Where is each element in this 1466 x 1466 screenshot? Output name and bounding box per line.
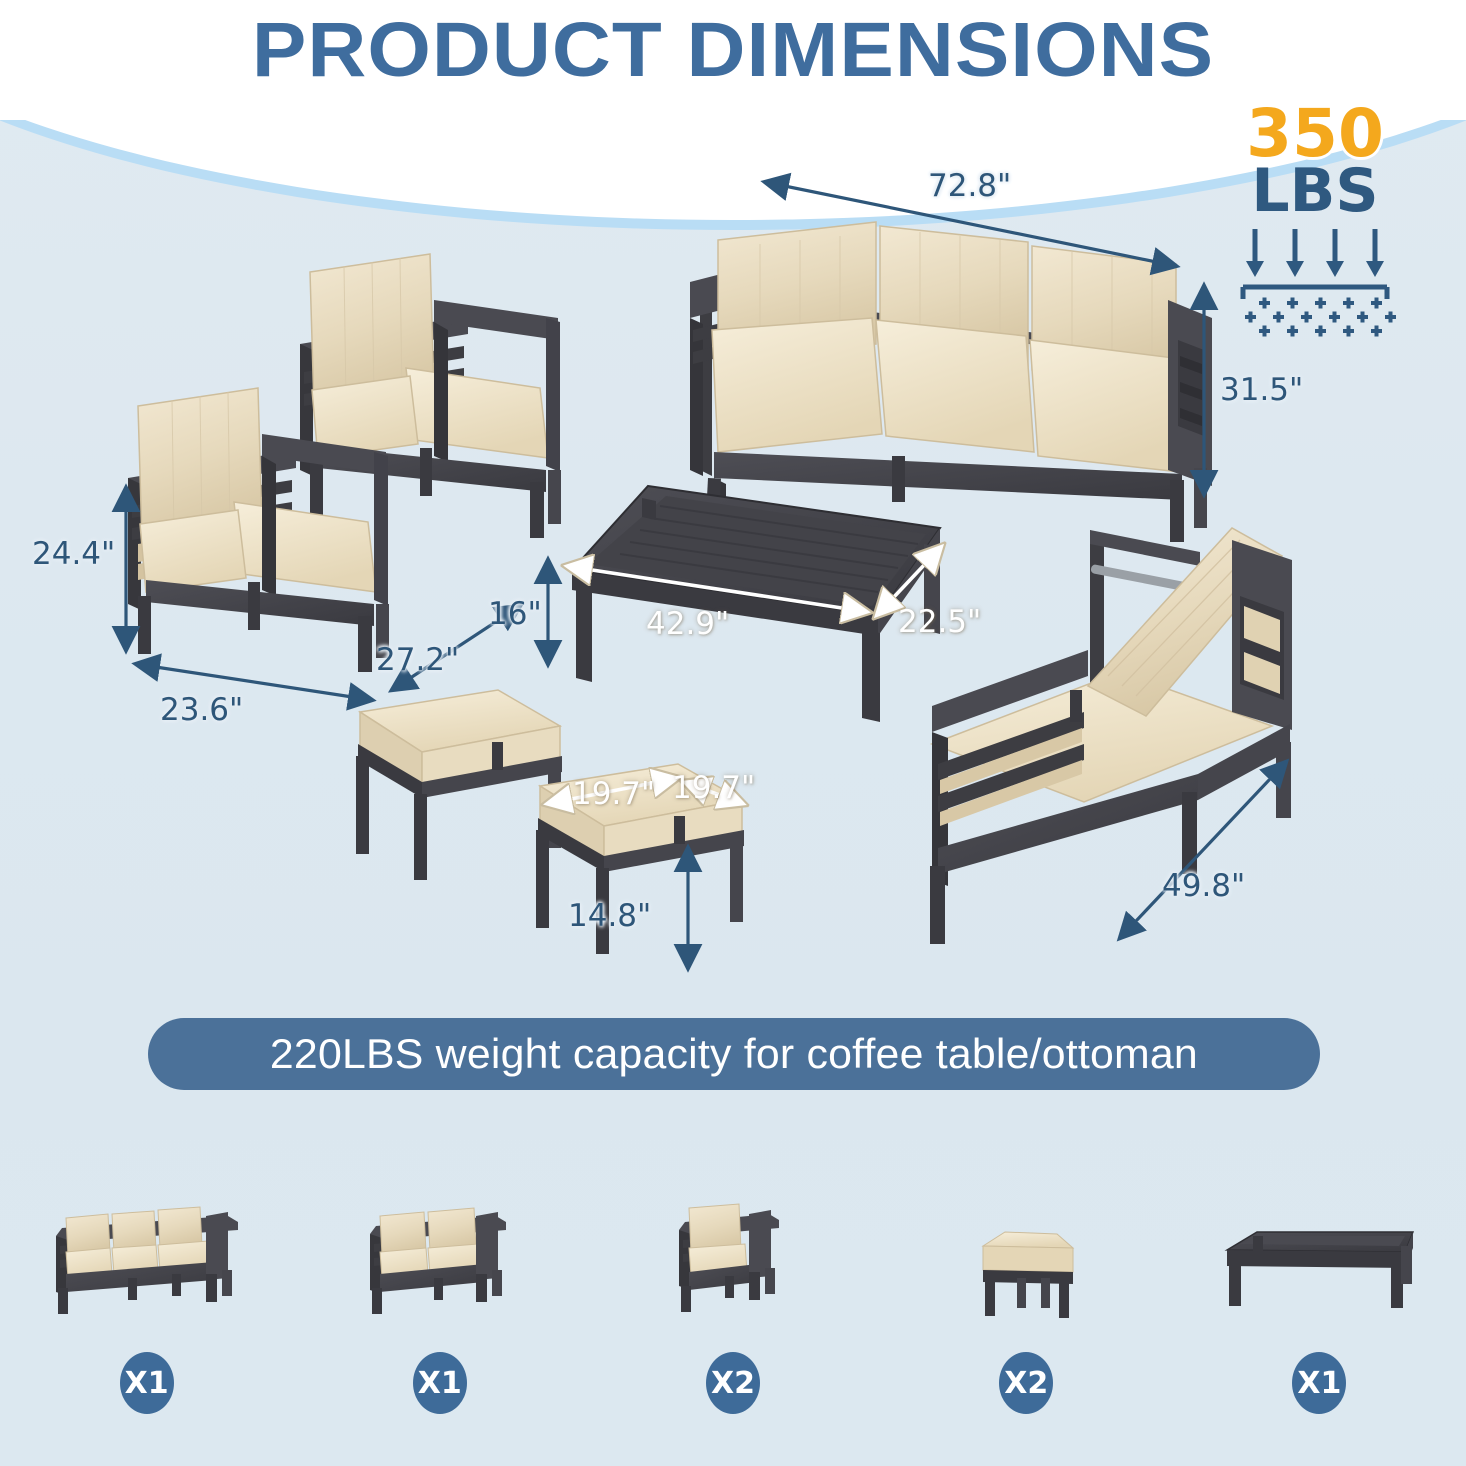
dim-label-table-length: 42.9" (646, 606, 729, 642)
dim-label-ottoman-width: 19.7" (572, 776, 655, 812)
banner-text: 220LBS weight capacity for coffee table/… (270, 1030, 1198, 1078)
downward-load-arrows-icon (1220, 225, 1410, 342)
dim-label-sofa-width: 72.8" (928, 168, 1011, 204)
dim-label-table-height: 16" (488, 596, 542, 632)
product-dimensions-infographic: PRODUCT DIMENSIONS 350 LBS (0, 0, 1466, 1466)
dim-label-loveseat-length: 49.8" (1162, 868, 1245, 904)
parts-qty-badge: X1 (1292, 1352, 1346, 1414)
parts-item-coffee-table: X1 (1173, 1148, 1466, 1466)
parts-icon-3seat-sofa (32, 1148, 262, 1324)
parts-qty-badge: X2 (999, 1352, 1053, 1414)
parts-item-armchair: X2 (586, 1148, 879, 1466)
parts-icon-coffee-table (1209, 1148, 1429, 1324)
dim-label-sofa-height: 31.5" (1220, 372, 1303, 408)
parts-qty-badge: X1 (120, 1352, 174, 1414)
parts-icon-loveseat (350, 1148, 530, 1324)
parts-icon-armchair (663, 1148, 803, 1324)
weight-capacity-badge: 350 LBS (1220, 104, 1410, 342)
parts-qty-badge: X1 (413, 1352, 467, 1414)
parts-icon-ottoman (961, 1148, 1091, 1324)
weight-capacity-banner: 220LBS weight capacity for coffee table/… (148, 1018, 1320, 1090)
dim-label-chair-height: 24.4" (32, 536, 115, 572)
dim-label-ottoman-height: 14.8" (568, 898, 651, 934)
parts-item-3seat-sofa: X1 (0, 1148, 293, 1466)
parts-item-ottoman: X2 (880, 1148, 1173, 1466)
dim-label-chair-depth: 27.2" (376, 642, 459, 678)
parts-item-loveseat: X1 (293, 1148, 586, 1466)
parts-list-strip: X1 (0, 1148, 1466, 1466)
dim-label-ottoman-depth: 19.7" (672, 770, 755, 806)
arrow-loveseat-length (1120, 762, 1286, 938)
page-title: PRODUCT DIMENSIONS (0, 6, 1466, 95)
dim-label-table-width: 22.5" (898, 604, 981, 640)
parts-qty-badge: X2 (706, 1352, 760, 1414)
dim-label-chair-width: 23.6" (160, 692, 243, 728)
